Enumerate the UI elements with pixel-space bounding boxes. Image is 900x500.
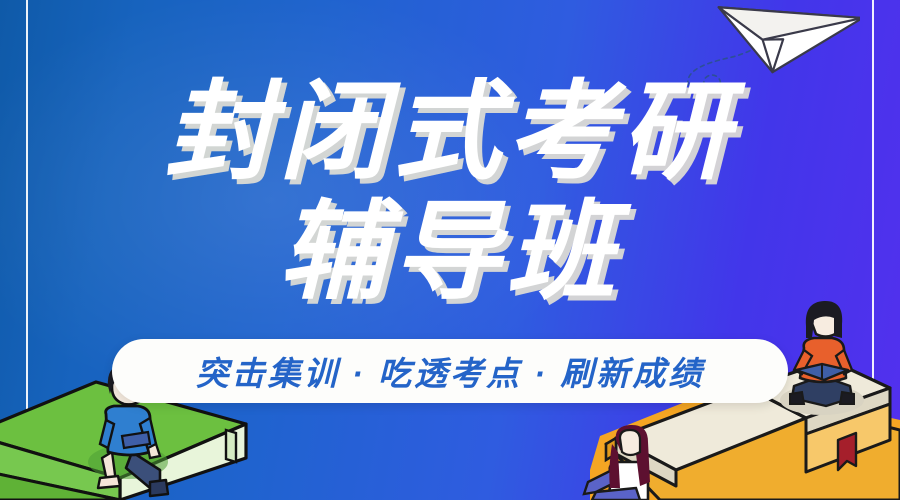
headline-block: 封闭式考研 辅导班 bbox=[0, 78, 900, 306]
headline-line-2: 辅导班 bbox=[0, 198, 900, 306]
feature-banner-text: 突击集训 · 吃透考点 · 刷新成绩 bbox=[196, 347, 705, 395]
poster-canvas: 封闭式考研 辅导班 突击集训 · 吃透考点 · 刷新成绩 bbox=[0, 0, 900, 500]
student-reading-on-book bbox=[780, 301, 864, 415]
student-leaning-on-book bbox=[584, 425, 650, 500]
feature-banner[interactable]: 突击集训 · 吃透考点 · 刷新成绩 bbox=[112, 339, 788, 403]
headline-line-1: 封闭式考研 bbox=[0, 78, 900, 186]
